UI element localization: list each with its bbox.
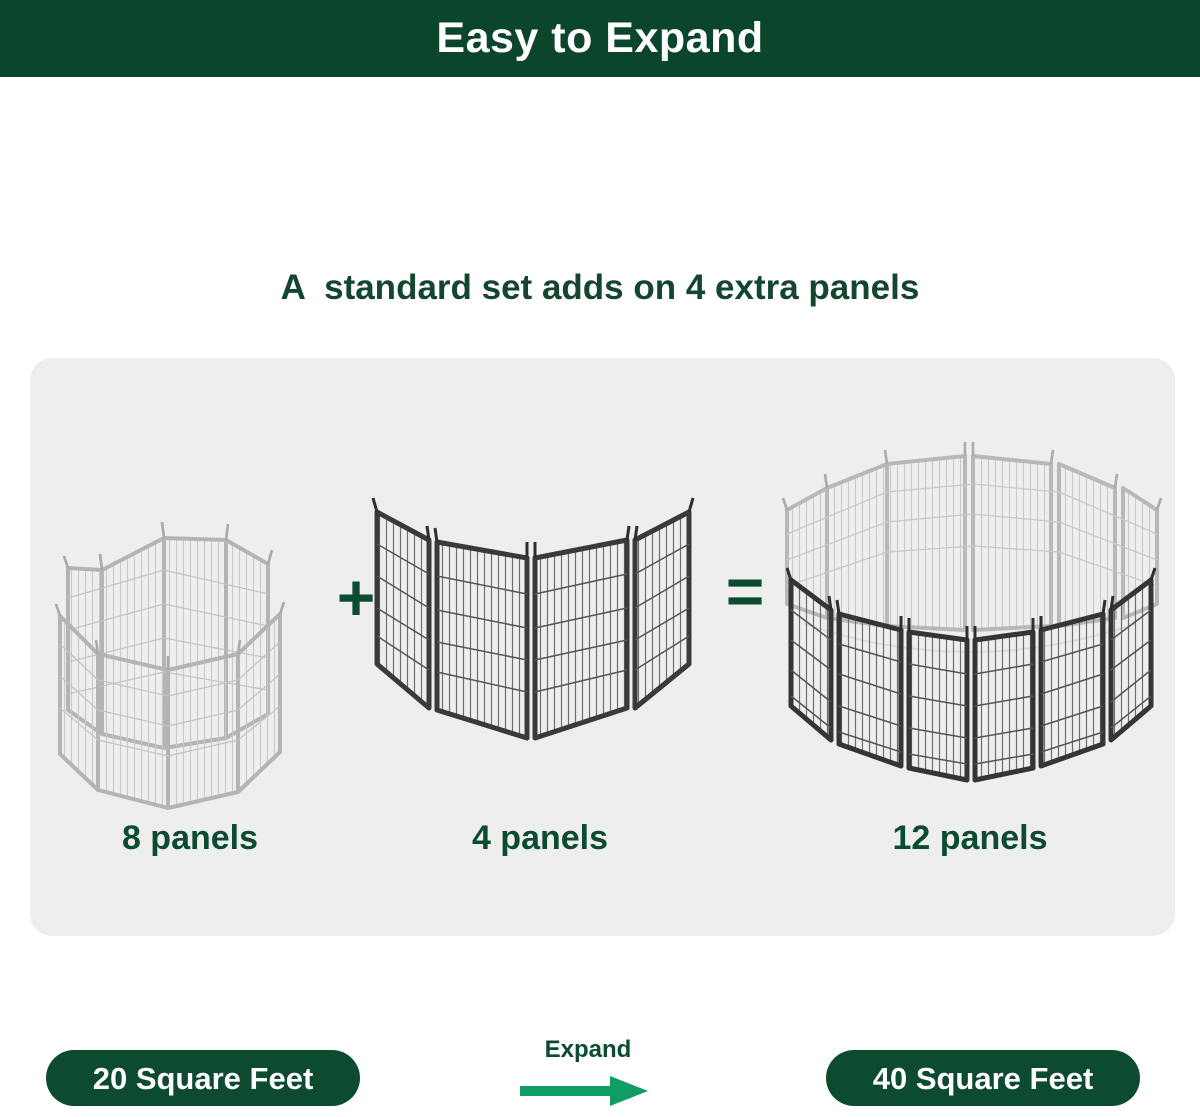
four-panel-extension-illustration	[355, 418, 715, 818]
playpen-8-icon	[40, 418, 320, 818]
octagonal-playpen-8-illustration	[40, 418, 320, 818]
caption-12-panels: 12 panels	[775, 821, 1165, 855]
expand-label: Expand	[518, 1038, 658, 1062]
equation-stage: +	[30, 358, 1175, 936]
header-bar: Easy to Expand	[0, 0, 1200, 77]
badge-right-label: 40 Square Feet	[873, 1063, 1094, 1094]
badge-40-square-feet: 40 Square Feet	[826, 1050, 1140, 1106]
caption-4-panels: 4 panels	[360, 821, 720, 855]
badge-left-label: 20 Square Feet	[93, 1063, 314, 1094]
dodecagonal-playpen-12-illustration	[775, 418, 1165, 818]
playpen-12-icon	[775, 418, 1165, 818]
page-title: Easy to Expand	[436, 17, 763, 60]
expand-indicator: Expand	[518, 1038, 658, 1108]
equals-operator: =	[710, 558, 780, 624]
arrow-right-icon	[518, 1072, 650, 1108]
badge-20-square-feet: 20 Square Feet	[46, 1050, 360, 1106]
caption-8-panels: 8 panels	[50, 821, 330, 855]
panels-4-icon	[355, 418, 715, 818]
subtitle-line-1: A standard set adds on 4 extra panels	[0, 264, 1200, 312]
